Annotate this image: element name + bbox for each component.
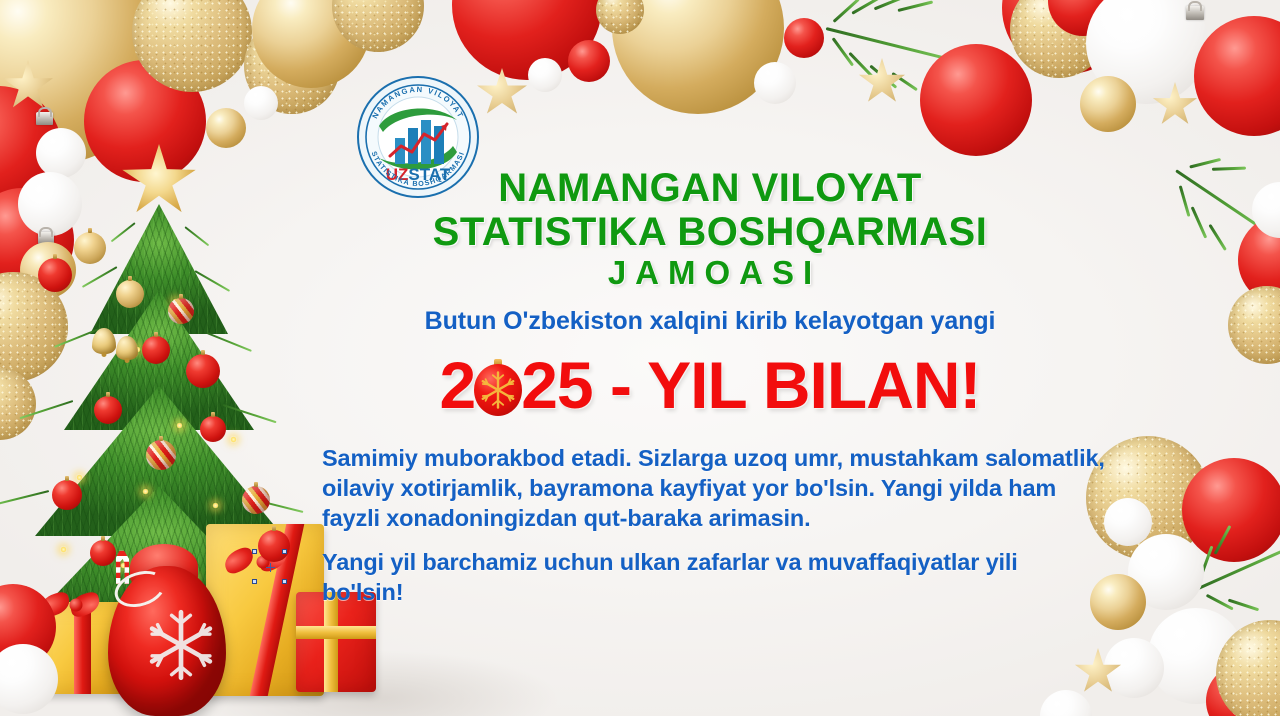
string-light (92, 612, 99, 619)
gold-bell-icon (116, 336, 138, 360)
string-light (230, 436, 237, 443)
gold-glitter-star-icon (1074, 648, 1122, 696)
bauble-cap (36, 112, 53, 125)
body-paragraph-2: Yangi yil barchamiz uchun ulkan zafarlar… (322, 547, 1102, 607)
tree-ornament-red (186, 354, 220, 388)
snowflake-bauble-icon (474, 359, 522, 416)
tree-ornament-gold (134, 566, 160, 592)
gold-bauble (1080, 76, 1136, 132)
white-bauble (36, 128, 86, 178)
white-bauble (18, 172, 82, 236)
red-bauble (1048, 0, 1118, 36)
white-bauble (244, 86, 278, 120)
greeting-headline: 2 (300, 352, 1120, 418)
organization-line-2: STATISTIKA BOSHQARMASI (300, 211, 1120, 254)
red-bauble (0, 188, 74, 292)
gold-glitter-star-icon (2, 60, 54, 112)
gold-bauble (206, 108, 246, 148)
gold-glitter-star-icon (1152, 82, 1198, 128)
string-light (76, 474, 83, 481)
white-bauble (754, 62, 796, 104)
white-bauble (1040, 690, 1092, 716)
tree-ornament-striped (146, 440, 176, 470)
glitter-gold-bauble (0, 272, 68, 382)
gold-bell-icon (172, 592, 196, 618)
glitter-gold-bauble (596, 0, 644, 34)
gold-glitter-star-icon (476, 68, 528, 118)
tree-ornament-red (90, 540, 116, 566)
santa-sack-neck (130, 544, 198, 590)
snowflake-icon (142, 606, 220, 684)
gold-bell-icon (92, 328, 116, 354)
red-bauble (1206, 664, 1280, 716)
glitter-gold-bauble (0, 368, 36, 440)
white-bauble (528, 58, 562, 92)
tree-needles (0, 204, 319, 654)
tree-ornament-striped (242, 486, 270, 514)
gift-bow (40, 592, 112, 618)
tree-ornament-red (142, 336, 170, 364)
string-light (172, 298, 179, 305)
red-bauble (452, 0, 602, 80)
red-bauble (1182, 458, 1280, 562)
tree-ornament-gold (116, 280, 144, 308)
greeting-subtitle: Butun O'zbekiston xalqini kirib kelayotg… (300, 307, 1120, 336)
tree-tier (35, 386, 283, 536)
string-light (200, 362, 207, 369)
gold-bauble (20, 242, 76, 298)
tree-ornament-red (94, 396, 122, 424)
greeting-card: UZSTAT NAMANGAN VILOYAT STATISTIKA BOSHQ… (0, 0, 1280, 716)
string-light (234, 606, 241, 613)
floor-shadow (200, 650, 560, 716)
headline-suffix: 25 - YIL BILAN! (521, 352, 980, 418)
white-bauble (1104, 638, 1164, 698)
string-light (142, 488, 149, 495)
organization-line-1: NAMANGAN VILOYAT (300, 167, 1120, 210)
tree-tier (64, 290, 254, 430)
white-bauble (1148, 608, 1244, 704)
string-light (102, 408, 109, 415)
string-light (190, 574, 197, 581)
gold-star-topper-icon (120, 144, 198, 218)
red-bauble (0, 584, 56, 670)
glitter-gold-bauble (1010, 0, 1108, 78)
red-bauble (1238, 214, 1280, 306)
red-bauble (784, 18, 824, 58)
glitter-gold-bauble (244, 18, 340, 114)
string-light (60, 546, 67, 553)
string-light (164, 620, 171, 627)
string-light (176, 422, 183, 429)
sack-drawstring (110, 565, 170, 613)
body-paragraph-1: Samimiy muborakbod etadi. Sizlarga uzoq … (322, 443, 1112, 533)
text-content: NAMANGAN VILOYAT STATISTIKA BOSHQARMASI … (0, 0, 1280, 716)
glitter-gold-bauble (332, 0, 424, 52)
red-bauble (0, 86, 62, 214)
pine-sprig (1196, 556, 1280, 620)
gold-bauble (0, 0, 160, 164)
organization-line-3: JAMOASI (300, 255, 1120, 291)
gold-bauble (612, 0, 784, 114)
string-light (134, 346, 141, 353)
tree-tier (90, 204, 228, 334)
pine-sprig (826, 0, 976, 60)
pine-sprig (1176, 134, 1280, 204)
white-bauble (1252, 182, 1280, 238)
glitter-gold-bauble (1228, 286, 1280, 364)
gift-ribbon (296, 626, 376, 639)
headline-prefix: 2 (439, 352, 475, 418)
string-light (212, 502, 219, 509)
tree-ornament-gold (74, 232, 106, 264)
tree-ornament-red (52, 480, 82, 510)
red-bauble (84, 60, 206, 182)
gold-glitter-star-icon (858, 58, 906, 106)
gold-bell-icon (196, 600, 218, 624)
tree-ornament-striped (168, 298, 194, 324)
white-bauble (1128, 534, 1204, 610)
red-bauble (1194, 16, 1280, 136)
bauble-cap (1186, 6, 1204, 20)
red-bauble (568, 40, 610, 82)
tree-ornament-red (200, 416, 226, 442)
bauble-cap (38, 232, 54, 244)
white-bauble (0, 644, 58, 714)
red-bauble (920, 44, 1032, 156)
gold-bauble (252, 0, 370, 88)
small-gold-gift-box (30, 602, 146, 694)
gift-ribbon (74, 602, 91, 694)
selection-handle-marker[interactable] (252, 549, 288, 585)
tree-ornament-red (38, 258, 72, 292)
red-bauble (1002, 0, 1134, 74)
glitter-gold-bauble (132, 0, 252, 92)
candy-cane-icon (116, 550, 129, 584)
glitter-gold-bauble (1216, 620, 1280, 716)
string-light (120, 562, 127, 569)
